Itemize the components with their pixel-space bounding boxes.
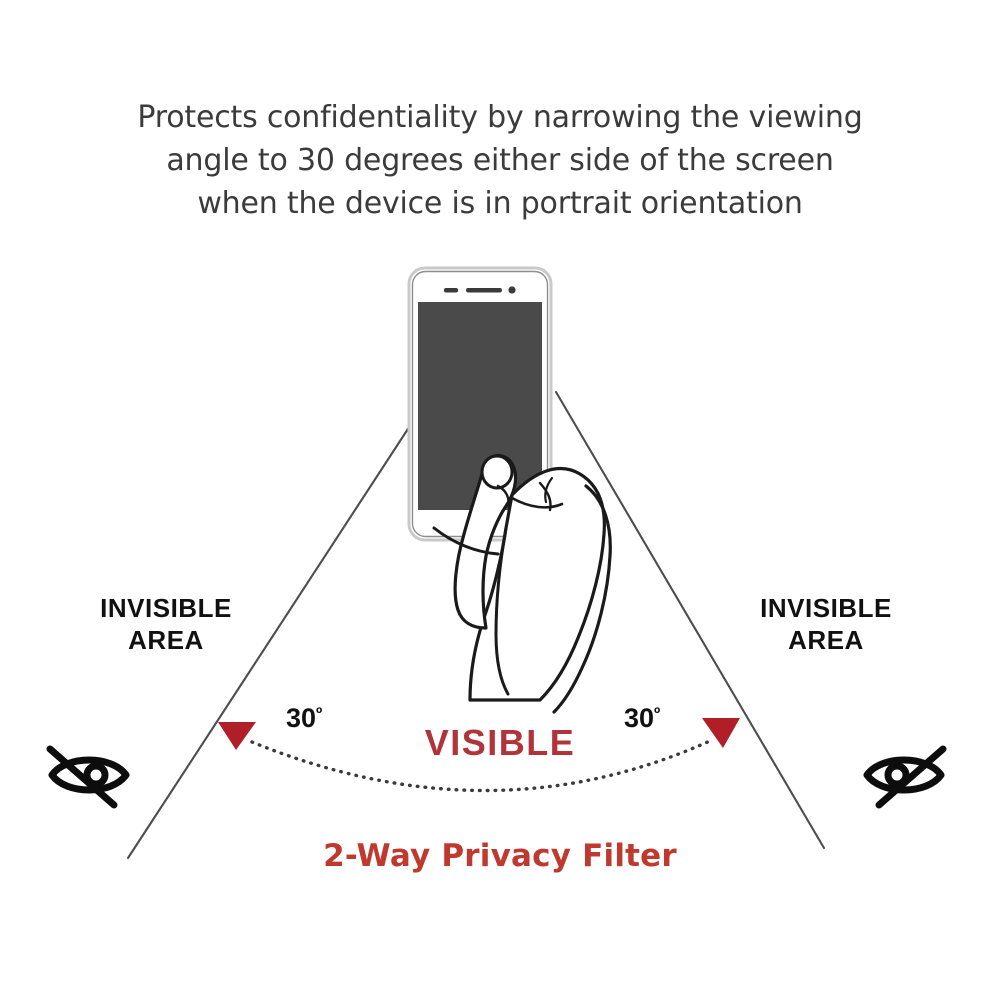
phone-front-camera-icon [508, 286, 515, 293]
hand-fingertip [482, 456, 512, 488]
angle-right-degree-symbol: º [654, 704, 660, 723]
invisible-area-right-line-1: INVISIBLE [706, 592, 946, 624]
invisible-area-left-line-1: INVISIBLE [46, 592, 286, 624]
product-caption: 2-Way Privacy Filter [0, 838, 1000, 874]
angle-left-degree-symbol: º [316, 704, 322, 723]
invisible-area-label-right: INVISIBLE AREA [706, 592, 946, 656]
infographic-page: Protects confidentiality by narrowing th… [0, 0, 1000, 1000]
invisible-area-right-line-2: AREA [706, 624, 946, 656]
visible-area-label: VISIBLE [0, 722, 1000, 764]
invisible-area-label-left: INVISIBLE AREA [46, 592, 286, 656]
phone-speaker-grille [466, 288, 502, 293]
phone-sensor-dash [444, 288, 458, 293]
invisible-area-left-line-2: AREA [46, 624, 286, 656]
